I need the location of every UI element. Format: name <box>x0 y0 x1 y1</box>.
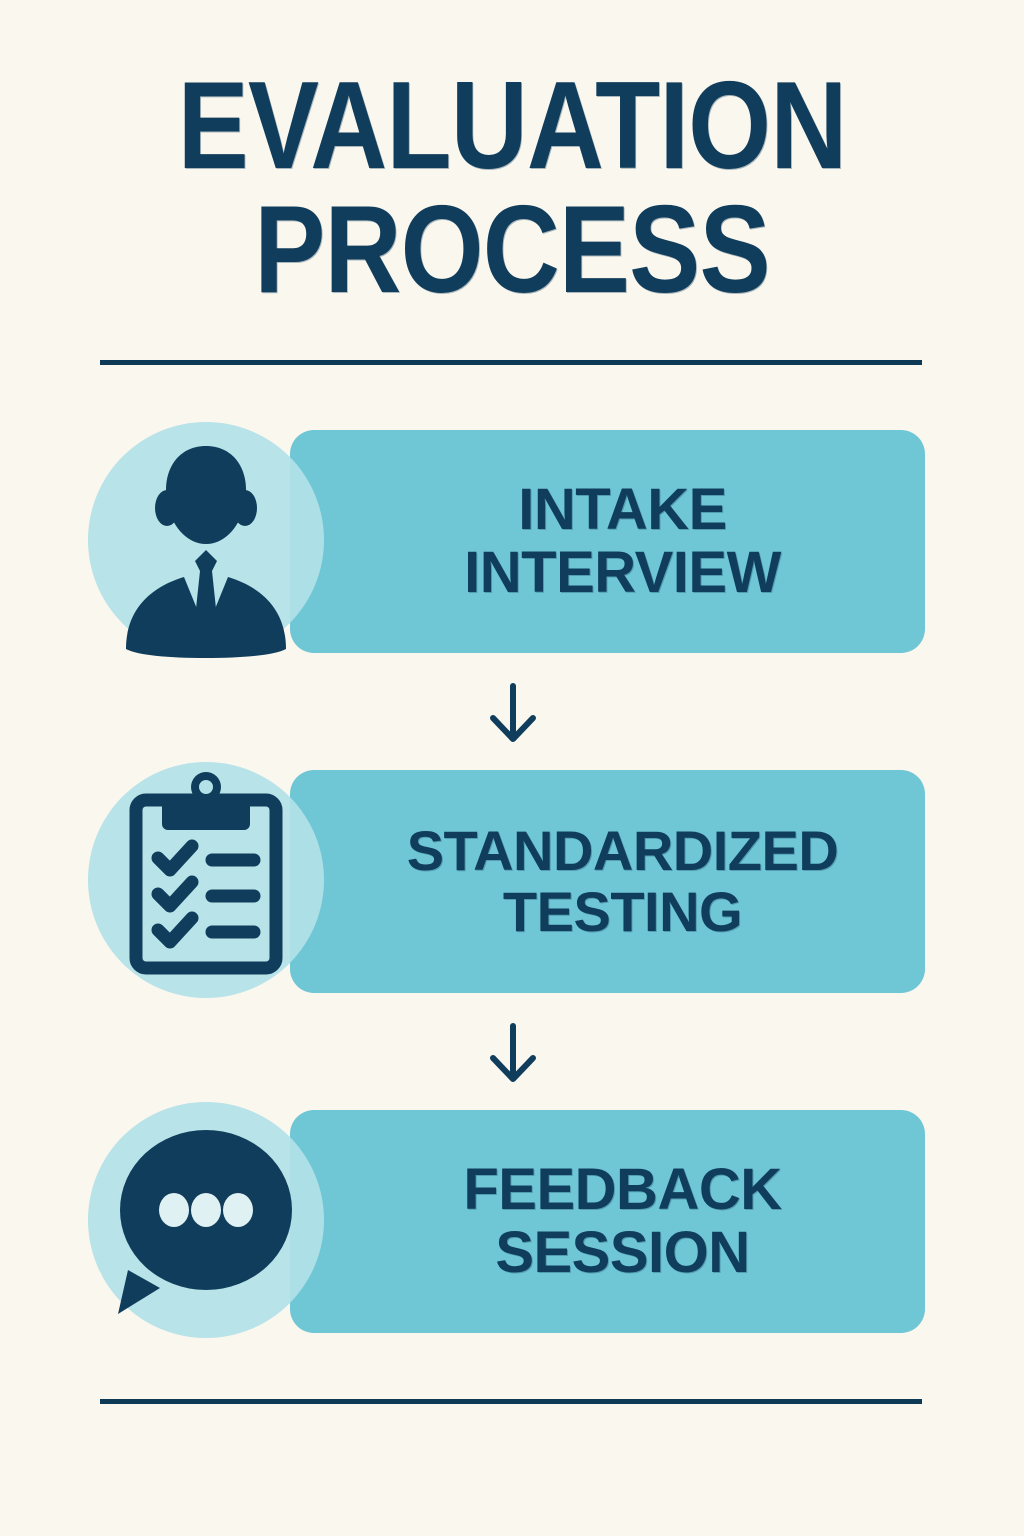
person-avatar-icon <box>88 422 324 658</box>
evaluation-process-poster: EVALUATION PROCESS INTAKE INTERVIEW <box>0 0 1024 1536</box>
divider-top <box>100 360 922 365</box>
step-1-label-line-1: INTAKE <box>518 479 727 542</box>
page-title-line-1: EVALUATION <box>72 68 953 186</box>
process-step-3: FEEDBACK SESSION <box>0 1102 1024 1340</box>
step-2-label-line-2: TESTING <box>503 882 742 942</box>
process-step-1: INTAKE INTERVIEW <box>0 422 1024 660</box>
step-3-label: FEEDBACK SESSION <box>320 1110 925 1333</box>
step-2-label-line-1: STANDARDIZED <box>407 821 839 881</box>
step-3-label-line-2: SESSION <box>495 1222 749 1285</box>
arrow-down-icon <box>481 682 545 746</box>
page-title: EVALUATION PROCESS <box>0 68 1024 310</box>
step-3-label-line-1: FEEDBACK <box>463 1159 781 1222</box>
step-2-label: STANDARDIZED TESTING <box>320 770 925 993</box>
step-1-label-line-2: INTERVIEW <box>464 542 781 605</box>
step-1-label: INTAKE INTERVIEW <box>320 430 925 653</box>
arrow-down-icon <box>481 1022 545 1086</box>
divider-bottom <box>100 1399 922 1404</box>
clipboard-checklist-icon <box>88 762 324 998</box>
page-title-line-2: PROCESS <box>72 192 953 310</box>
speech-bubble-dots-icon <box>88 1102 324 1338</box>
process-step-2: STANDARDIZED TESTING <box>0 762 1024 1000</box>
